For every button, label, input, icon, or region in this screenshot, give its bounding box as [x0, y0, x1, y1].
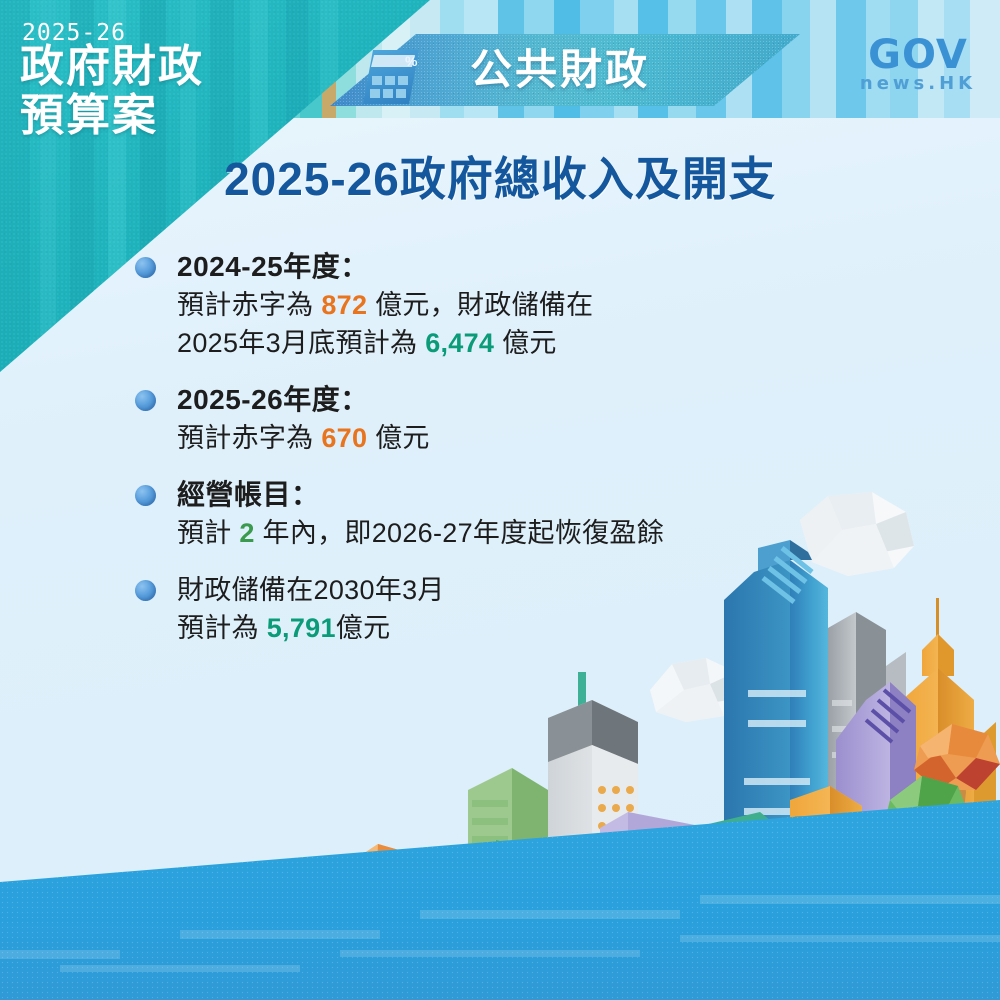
text-segment: 億元 — [336, 613, 391, 643]
cloud-small — [650, 658, 742, 722]
bullet-text: 2025-26年度：預計赤字為 670 億元 — [177, 381, 755, 457]
bullet-text: 財政儲備在2030年3月預計為 5,791億元 — [177, 571, 755, 647]
stripe — [782, 0, 810, 118]
calculator-percent-icon: % — [349, 44, 423, 104]
text-segment: 預計赤字為 — [177, 290, 321, 320]
bullet-lead: 經營帳目： — [177, 476, 755, 514]
logo-news-text: news.HK — [852, 74, 984, 94]
brand-title-line2: 預算案 — [20, 91, 204, 140]
blue-globe-bullet-icon — [135, 257, 156, 278]
text-segment: 財政儲備在2030年3月 — [177, 575, 445, 605]
calculator-key — [398, 76, 408, 85]
bullet-line: 財政儲備在2030年3月 — [177, 571, 755, 609]
water-line — [420, 910, 680, 919]
bullet-text: 2024-25年度：預計赤字為 872 億元，財政儲備在2025年3月底預計為 … — [177, 248, 755, 362]
bullet-item: 財政儲備在2030年3月預計為 5,791億元 — [135, 571, 755, 647]
brand-title: 政府財政 預算案 — [20, 42, 204, 140]
text-segment: 預計 — [177, 518, 239, 548]
text-segment: 預計赤字為 — [177, 423, 321, 453]
govnews-logo[interactable]: GOV news.HK — [852, 36, 984, 94]
water-line — [60, 965, 300, 972]
text-segment: 預計為 — [177, 613, 267, 643]
water-line — [180, 930, 380, 939]
text-segment: 2025年3月底預計為 — [177, 328, 425, 358]
text-segment: 億元，財政儲備在 — [367, 290, 593, 320]
text-segment: 億元 — [494, 328, 556, 358]
brand-title-line1: 政府財政 — [20, 42, 204, 91]
text-segment: 年內，即2026-27年度起恢復盈餘 — [255, 518, 664, 548]
calculator-key — [385, 76, 395, 85]
stripe — [810, 0, 836, 118]
bullet-line: 預計赤字為 872 億元，財政儲備在 — [177, 286, 755, 324]
percent-symbol: % — [405, 53, 417, 69]
highlight-value: 2 — [239, 518, 254, 548]
bullet-line: 預計赤字為 670 億元 — [177, 419, 755, 457]
section-banner-label: 公共財政 — [470, 40, 730, 100]
logo-gov-text: GOV — [852, 36, 984, 74]
highlight-value: 872 — [321, 290, 367, 320]
bullet-line: 預計為 5,791億元 — [177, 609, 755, 647]
calculator-key — [396, 89, 406, 98]
highlight-value: 670 — [321, 423, 367, 453]
water-line — [700, 895, 1000, 904]
highlight-value: 6,474 — [425, 328, 494, 358]
blue-globe-bullet-icon — [135, 485, 156, 506]
blue-globe-bullet-icon — [135, 580, 156, 601]
infographic-poster: 2025-26 政府財政 預算案 % 公共財政 GOV news.HK 2025… — [0, 0, 1000, 1000]
bullet-line: 預計 2 年內，即2026-27年度起恢復盈餘 — [177, 514, 755, 552]
calculator-key — [372, 76, 382, 85]
water-line — [0, 950, 120, 959]
calculator-key — [383, 89, 393, 98]
bullet-lead: 2025-26年度： — [177, 381, 755, 419]
harbour-water-lines — [0, 800, 1000, 1000]
cloud-large — [800, 492, 914, 576]
bullet-list: 2024-25年度：預計赤字為 872 億元，財政儲備在2025年3月底預計為 … — [135, 248, 755, 666]
bullet-item: 2025-26年度：預計赤字為 670 億元 — [135, 381, 755, 457]
bullet-item: 經營帳目：預計 2 年內，即2026-27年度起恢復盈餘 — [135, 476, 755, 552]
bullet-line: 2025年3月底預計為 6,474 億元 — [177, 324, 755, 362]
calculator-key — [370, 89, 380, 98]
text-segment: 億元 — [367, 423, 429, 453]
water-line — [340, 950, 640, 957]
highlight-value: 5,791 — [267, 613, 336, 643]
bullet-item: 2024-25年度：預計赤字為 872 億元，財政儲備在2025年3月底預計為 … — [135, 248, 755, 362]
water-line — [680, 935, 1000, 942]
bullet-lead: 2024-25年度： — [177, 248, 755, 286]
bullet-text: 經營帳目：預計 2 年內，即2026-27年度起恢復盈餘 — [177, 476, 755, 552]
page-title: 2025-26政府總收入及開支 — [0, 143, 1000, 209]
blue-globe-bullet-icon — [135, 390, 156, 411]
